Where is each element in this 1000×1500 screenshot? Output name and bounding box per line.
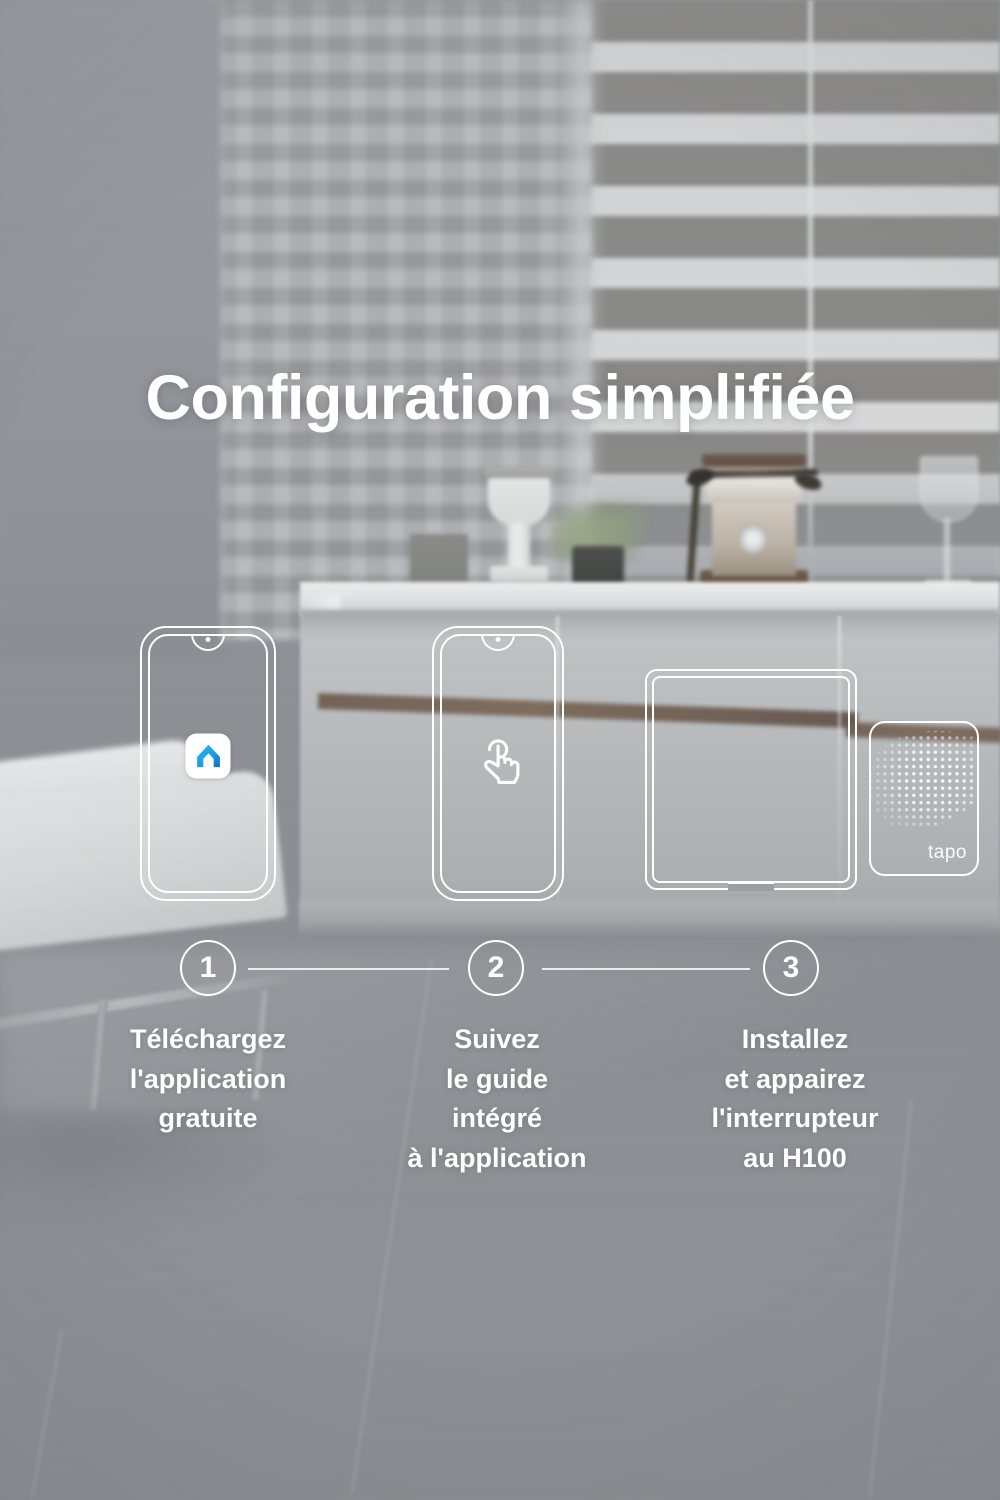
phone-notch-camera-icon: [191, 634, 225, 651]
step-caption-3: Installez et appairez l'interrupteur au …: [650, 1020, 940, 1179]
tap-gesture-icon: [472, 732, 524, 788]
step-number-2: 2: [468, 940, 524, 996]
step-number-1: 1: [180, 940, 236, 996]
page-title: Configuration simplifiée: [0, 362, 1000, 434]
step-caption-2: Suivez le guide intégré à l'application: [352, 1020, 642, 1179]
step-caption-1: Téléchargez l'application gratuite: [63, 1020, 353, 1139]
promo-scene: Configuration simplifiée: [0, 0, 1000, 1500]
phone-notch-camera-icon: [481, 634, 515, 651]
halftone-dots-pattern-icon: [869, 727, 979, 839]
overlay-content: Configuration simplifiée: [0, 0, 1000, 1500]
smartphone-outline-app: [140, 626, 276, 901]
device-illustration-row: tapo: [0, 620, 1000, 920]
smartphone-outline-guide: [432, 626, 564, 901]
h100-hub-outline: [645, 669, 857, 890]
tapo-home-app-icon[interactable]: [186, 734, 231, 779]
hub-bottom-tab: [728, 882, 774, 891]
tapo-switch-outline: tapo: [869, 721, 979, 876]
step-connector-2-3: [542, 968, 750, 970]
step-marker-row: 1 2 3: [0, 940, 1000, 1010]
step-connector-1-2: [248, 968, 449, 970]
step-number-3: 3: [763, 940, 819, 996]
tapo-wordmark: tapo: [928, 842, 967, 864]
